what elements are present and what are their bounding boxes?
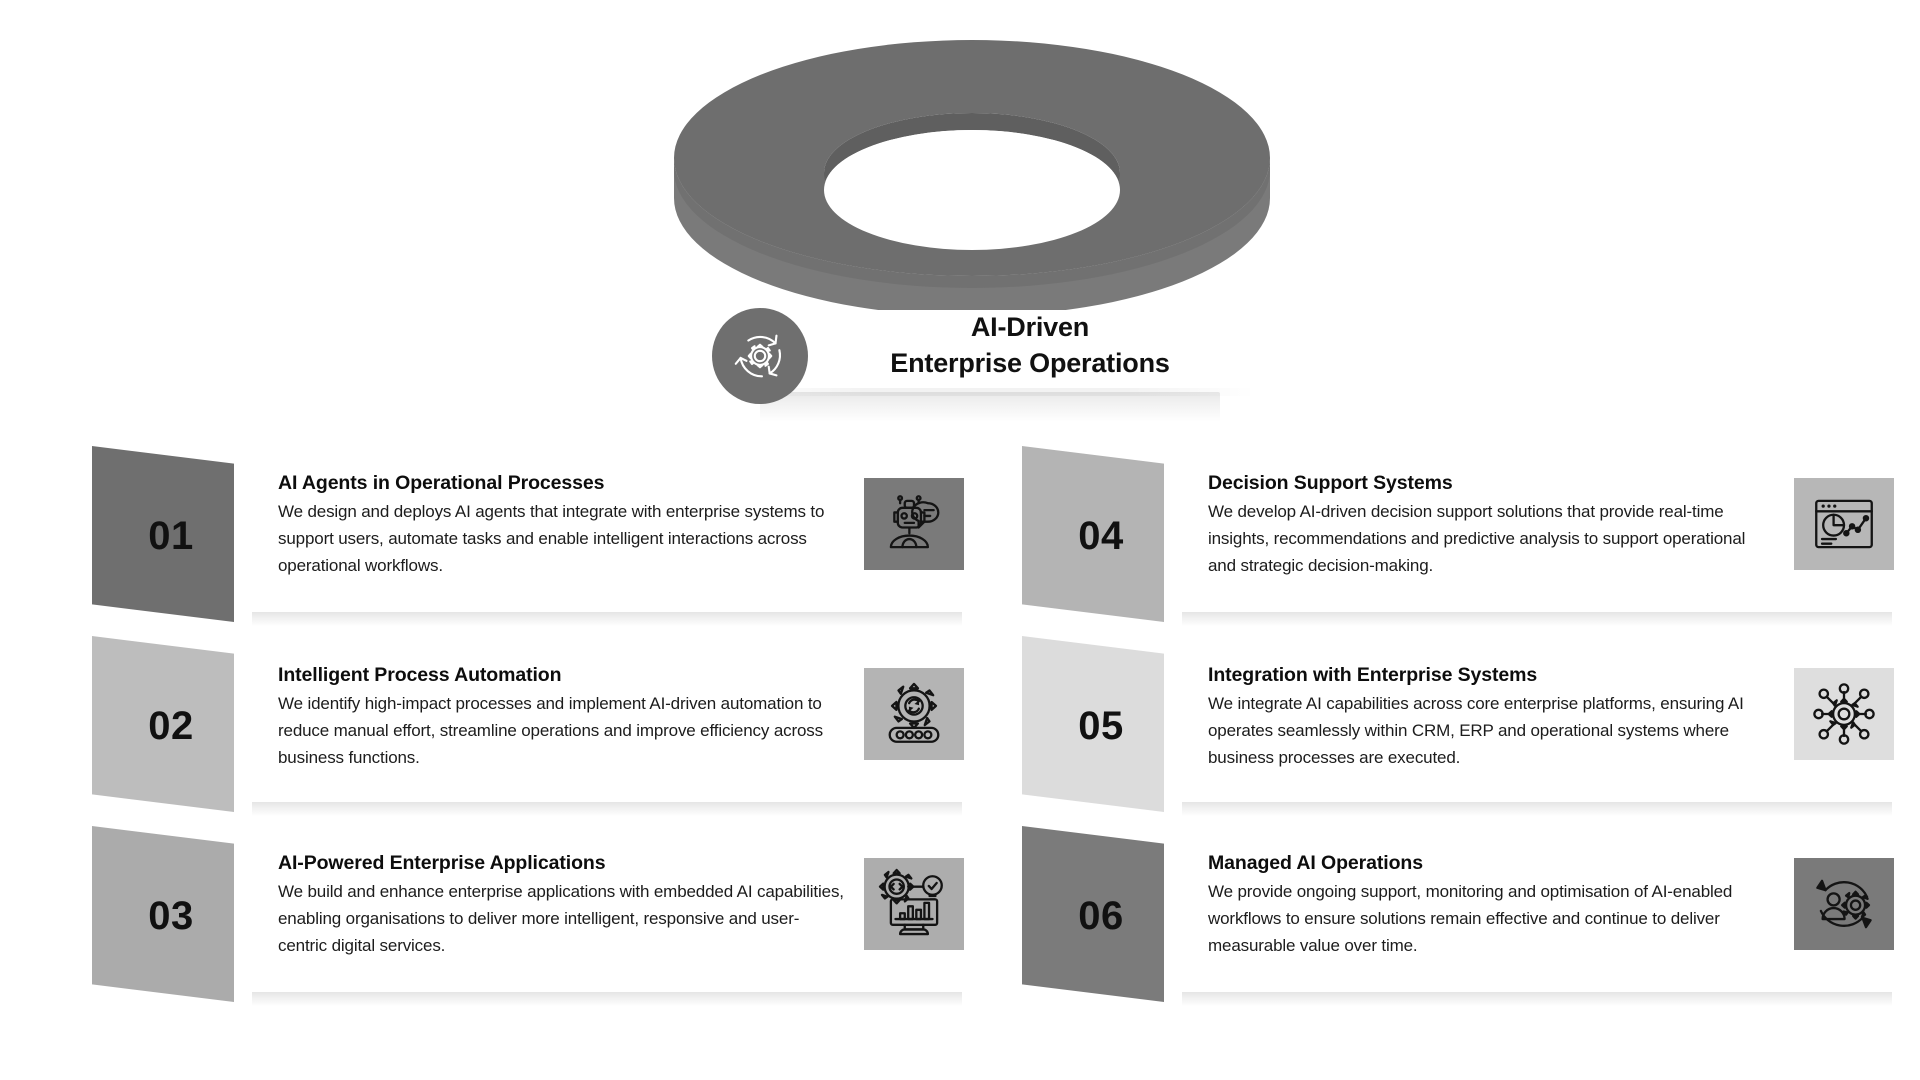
torus-graphic: [672, 40, 1272, 310]
item-text: Managed AI Operations We provide ongoing…: [1208, 852, 1774, 960]
page-title-line2: Enterprise Operations: [820, 346, 1240, 382]
item-text: AI Agents in Operational Processes We de…: [278, 472, 844, 580]
person-gear-cycle-glyph: [1807, 867, 1881, 941]
card-shadow: [252, 612, 962, 626]
robot-chat-glyph: [877, 487, 951, 561]
list-item[interactable]: 02 Intelligent Process Automation We ide…: [92, 636, 972, 826]
network-hub-gear-icon: [1794, 668, 1894, 760]
item-card[interactable]: Managed AI Operations We provide ongoing…: [1164, 850, 1902, 992]
list-item[interactable]: 03 AI-Powered Enterprise Applications We…: [92, 826, 972, 1016]
card-shadow: [252, 802, 962, 816]
item-text: Decision Support Systems We develop AI-d…: [1208, 472, 1774, 580]
step-number: 05: [1078, 704, 1124, 749]
gear-conveyor-glyph: [877, 677, 951, 751]
item-title: AI-Powered Enterprise Applications: [278, 852, 844, 875]
step-number: 03: [148, 894, 194, 939]
gear-refresh-cycle-glyph: [729, 325, 791, 387]
item-title: AI Agents in Operational Processes: [278, 472, 844, 495]
page-title-line1: AI-Driven: [820, 310, 1240, 346]
item-description: We identify high-impact processes and im…: [278, 691, 844, 772]
list-item[interactable]: 01 AI Agents in Operational Processes We…: [92, 446, 972, 636]
step-number: 06: [1078, 894, 1124, 939]
item-title: Decision Support Systems: [1208, 472, 1774, 495]
header-shadow: [760, 392, 1220, 422]
item-card[interactable]: Intelligent Process Automation We identi…: [234, 660, 972, 802]
dashboard-analytics-icon: [1794, 478, 1894, 570]
item-card[interactable]: AI Agents in Operational Processes We de…: [234, 470, 972, 612]
item-title: Intelligent Process Automation: [278, 664, 844, 687]
item-description: We develop AI-driven decision support so…: [1208, 499, 1774, 580]
step-number-tile-03: 03: [92, 826, 234, 1002]
step-number: 01: [148, 514, 194, 559]
list-item[interactable]: 06 Managed AI Operations We provide ongo…: [1022, 826, 1902, 1016]
step-number-tile-05: 05: [1022, 636, 1164, 812]
step-number-tile-01: 01: [92, 446, 234, 622]
monitor-chart-glyph: [877, 867, 951, 941]
item-description: We provide ongoing support, monitoring a…: [1208, 879, 1774, 960]
item-title: Managed AI Operations: [1208, 852, 1774, 875]
item-card[interactable]: Integration with Enterprise Systems We i…: [1164, 660, 1902, 802]
card-shadow: [1182, 802, 1892, 816]
item-text: Intelligent Process Automation We identi…: [278, 664, 844, 772]
step-number: 02: [148, 704, 194, 749]
item-description: We design and deploys AI agents that int…: [278, 499, 844, 580]
item-title: Integration with Enterprise Systems: [1208, 664, 1774, 687]
item-text: Integration with Enterprise Systems We i…: [1208, 664, 1774, 772]
card-shadow: [252, 992, 962, 1006]
monitor-chart-gear-bulb-icon: [864, 858, 964, 950]
items-column-right: 04 Decision Support Systems We develop A…: [1022, 446, 1902, 1016]
header-section: AI-Driven Enterprise Operations: [0, 0, 1920, 440]
item-card[interactable]: AI-Powered Enterprise Applications We bu…: [234, 850, 972, 992]
step-number: 04: [1078, 514, 1124, 559]
torus-svg: [672, 40, 1272, 310]
list-item[interactable]: 04 Decision Support Systems We develop A…: [1022, 446, 1902, 636]
card-shadow: [1182, 992, 1892, 1006]
gear-refresh-cycle-icon: [712, 308, 808, 404]
items-column-left: 01 AI Agents in Operational Processes We…: [92, 446, 972, 1016]
robot-chat-icon: [864, 478, 964, 570]
gear-conveyor-belt-icon: [864, 668, 964, 760]
network-hub-glyph: [1807, 677, 1881, 751]
card-shadow: [1182, 612, 1892, 626]
dashboard-analytics-glyph: [1807, 487, 1881, 561]
page-title: AI-Driven Enterprise Operations: [820, 310, 1240, 382]
item-description: We build and enhance enterprise applicat…: [278, 879, 844, 960]
step-number-tile-04: 04: [1022, 446, 1164, 622]
item-description: We integrate AI capabilities across core…: [1208, 691, 1774, 772]
person-gear-cycle-icon: [1794, 858, 1894, 950]
item-text: AI-Powered Enterprise Applications We bu…: [278, 852, 844, 960]
step-number-tile-06: 06: [1022, 826, 1164, 1002]
list-item[interactable]: 05 Integration with Enterprise Systems W…: [1022, 636, 1902, 826]
item-card[interactable]: Decision Support Systems We develop AI-d…: [1164, 470, 1902, 612]
step-number-tile-02: 02: [92, 636, 234, 812]
